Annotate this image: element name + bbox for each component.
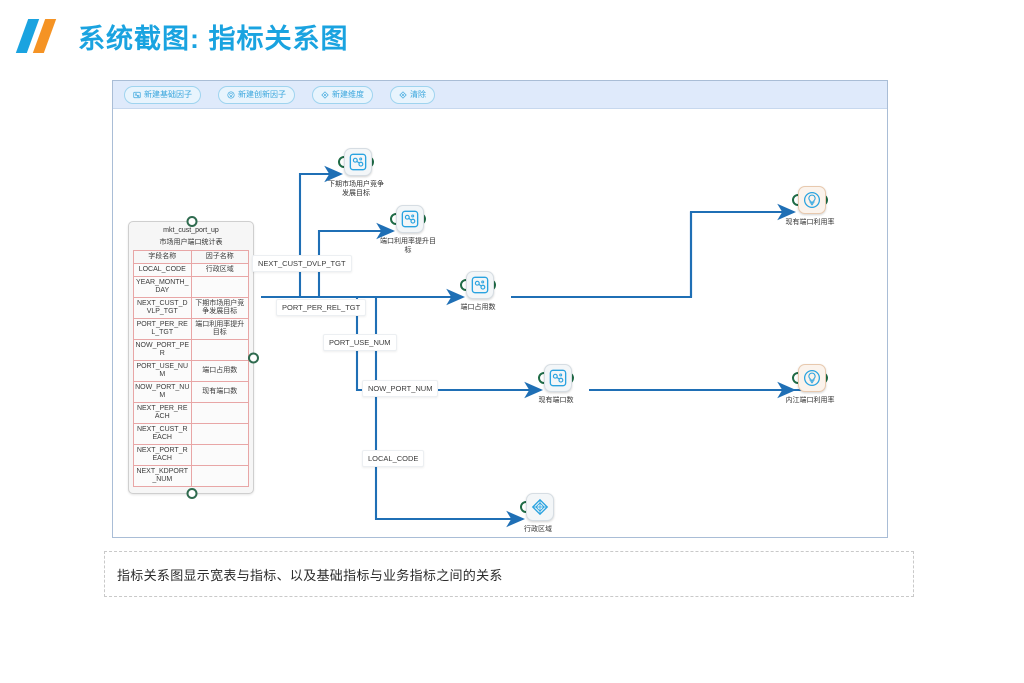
edge-label-port-per-rel-tgt: PORT_PER_REL_TGT [276,299,366,316]
node-label: 行政区域 [507,525,569,534]
table-row: NEXT_CUST_REACH [134,424,249,445]
double-slash-logo [20,19,64,53]
factor-name-cell [191,403,249,424]
edge-label-now-port-num: NOW_PORT_NUM [362,380,438,397]
factor-graph-icon [396,205,424,233]
canvas-drawing-area[interactable]: mkt_cust_port_up 市场用户端口统计表 字段名称 因子名称 LOC… [113,109,887,538]
factor-name-cell: 端口利用率提升目标 [191,319,249,340]
lightbulb-icon [798,186,826,214]
table-row: NOW_PORT_PER [134,340,249,361]
graph-node-now-port-num[interactable]: 现有端口数 [539,363,573,405]
lightbulb-icon [798,364,826,392]
factor-name-cell [191,445,249,466]
field-name-cell: YEAR_MONTH_DAY [134,277,192,298]
table-row: NEXT_PER_REACH [134,403,249,424]
factor-name-cell: 下期市场用户竞争发展目标 [191,298,249,319]
table-row: NEXT_CUST_DVLP_TGT下期市场用户竞争发展目标 [134,298,249,319]
table-header-row: 字段名称 因子名称 [134,251,249,264]
clear-button[interactable]: 清除 [390,86,435,104]
graph-node-next-cust-dvlp-tgt[interactable]: 下期市场用户竞争发展目标 [339,147,373,198]
field-name-cell: PORT_PER_REL_TGT [134,319,192,340]
node-label: 端口利用率提升目标 [377,237,439,255]
wide-table-fields: 字段名称 因子名称 LOCAL_CODE行政区域YEAR_MONTH_DAYNE… [133,250,249,487]
dimension-icon [526,493,554,521]
node-label: 下期市场用户竞争发展目标 [325,180,387,198]
field-name-cell: NEXT_CUST_DVLP_TGT [134,298,192,319]
clear-label: 清除 [410,91,426,99]
new-base-factor-button[interactable]: 新建基础因子 [124,86,201,104]
graph-node-port-use-num[interactable]: 端口占用数 [461,270,495,312]
table-row: NOW_PORT_NUM现有端口数 [134,382,249,403]
field-name-cell: NOW_PORT_PER [134,340,192,361]
graph-node-local-code[interactable]: 行政区域 [521,492,555,534]
factor-name-cell: 行政区域 [191,264,249,277]
wide-table-node[interactable]: mkt_cust_port_up 市场用户端口统计表 字段名称 因子名称 LOC… [128,221,254,494]
column-header-field: 字段名称 [134,251,192,264]
page-header: 系统截图: 指标关系图 [0,0,1024,72]
new-innovation-factor-button[interactable]: 新建创新因子 [218,86,295,104]
node-label: 现有端口数 [525,396,587,405]
edge-label-port-use-num: PORT_USE_NUM [323,334,397,351]
edge-label-next-cust-dvlp-tgt: NEXT_CUST_DVLP_TGT [252,255,352,272]
page-title: 系统截图: 指标关系图 [78,17,349,56]
factor-name-cell [191,277,249,298]
node-label: 端口占用数 [447,303,509,312]
factor-name-cell [191,424,249,445]
caption-text: 指标关系图显示宽表与指标、以及基础指标与业务指标之间的关系 [117,565,503,584]
dimension-icon [321,91,329,99]
new-dimension-label: 新建维度 [332,91,364,99]
edge-label-local-code: LOCAL_CODE [362,450,424,467]
factor-graph-icon [544,364,572,392]
table-row: NEXT_PORT_REACH [134,445,249,466]
factor-graph-icon [344,148,372,176]
base-factor-icon [133,91,141,99]
field-name-cell: NEXT_KDPORT_NUM [134,466,192,487]
table-row: LOCAL_CODE行政区域 [134,264,249,277]
wide-table-port-right[interactable] [248,352,259,363]
field-name-cell: NEXT_CUST_REACH [134,424,192,445]
caption-box: 指标关系图显示宽表与指标、以及基础指标与业务指标之间的关系 [104,551,914,597]
table-row: PORT_PER_REL_TGT端口利用率提升目标 [134,319,249,340]
field-name-cell: LOCAL_CODE [134,264,192,277]
node-label: 内江端口利用率 [779,396,841,405]
column-header-factor: 因子名称 [191,251,249,264]
table-row: YEAR_MONTH_DAY [134,277,249,298]
factor-graph-icon [466,271,494,299]
new-base-factor-label: 新建基础因子 [144,91,192,99]
lightbulb-icon [227,91,235,99]
graph-node-neijiang-port-usage-rate[interactable]: 内江端口利用率 [793,363,827,405]
graph-canvas-frame: 新建基础因子 新建创新因子 新建维度 清除 [112,80,888,538]
factor-name-cell: 端口占用数 [191,361,249,382]
new-innovation-factor-label: 新建创新因子 [238,91,286,99]
new-dimension-button[interactable]: 新建维度 [312,86,373,104]
wide-table-port-top[interactable] [187,216,198,227]
field-name-cell: NEXT_PER_REACH [134,403,192,424]
field-name-cell: NOW_PORT_NUM [134,382,192,403]
factor-name-cell [191,340,249,361]
factor-name-cell: 现有端口数 [191,382,249,403]
field-name-cell: NEXT_PORT_REACH [134,445,192,466]
graph-node-port-per-rel-tgt[interactable]: 端口利用率提升目标 [391,204,425,255]
graph-node-existing-port-usage-rate[interactable]: 现有端口利用率 [793,185,827,227]
canvas-toolbar: 新建基础因子 新建创新因子 新建维度 清除 [113,81,887,109]
wide-table-code: mkt_cust_port_up [133,226,249,238]
table-row: PORT_USE_NUM端口占用数 [134,361,249,382]
wide-table-port-bottom[interactable] [187,488,198,499]
factor-name-cell [191,466,249,487]
clear-icon [399,91,407,99]
wide-table-name: 市场用户端口统计表 [133,238,249,250]
table-row: NEXT_KDPORT_NUM [134,466,249,487]
node-label: 现有端口利用率 [779,218,841,227]
field-name-cell: PORT_USE_NUM [134,361,192,382]
